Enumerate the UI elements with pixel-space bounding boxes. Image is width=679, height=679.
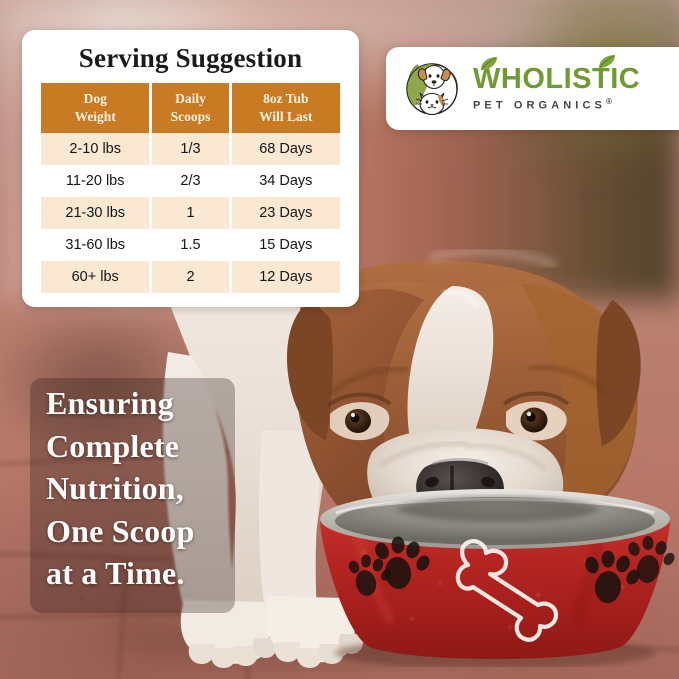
- leaf-icon: [479, 56, 499, 72]
- cell-tub-duration: 34 Days: [232, 165, 340, 197]
- registered-trademark-mark: ®: [606, 97, 612, 106]
- serving-suggestion-card: Serving Suggestion Dog Weight Daily Scoo…: [22, 30, 359, 307]
- cell-dog-weight: 11-20 lbs: [41, 165, 149, 197]
- cell-tub-duration: 15 Days: [232, 229, 340, 261]
- cell-dog-weight: 2-10 lbs: [41, 133, 149, 165]
- cell-daily-scoops: 2: [152, 261, 228, 293]
- brand-tagline-text: PET ORGANICS: [473, 100, 606, 112]
- product-lifestyle-image: Serving Suggestion Dog Weight Daily Scoo…: [0, 0, 679, 679]
- table-row: 31-60 lbs 1.5 15 Days: [41, 229, 340, 261]
- brand-name: WHOLISTIC: [473, 65, 640, 94]
- tagline-text: Ensuring Complete Nutrition, One Scoop a…: [46, 382, 286, 595]
- cell-tub-duration: 12 Days: [232, 261, 340, 293]
- red-dog-bowl: [300, 487, 679, 667]
- leaf-icon: [597, 54, 617, 70]
- column-header-daily-scoops: Daily Scoops: [152, 83, 228, 133]
- dog-and-cat-badge-icon: [400, 57, 464, 121]
- cell-dog-weight: 21-30 lbs: [41, 197, 149, 229]
- brand-tagline: PET ORGANICS®: [473, 98, 640, 112]
- cell-daily-scoops: 1.5: [152, 229, 228, 261]
- cell-daily-scoops: 2/3: [152, 165, 228, 197]
- column-header-dog-weight: Dog Weight: [41, 83, 149, 133]
- table-body: 2-10 lbs 1/3 68 Days 11-20 lbs 2/3 34 Da…: [41, 133, 340, 293]
- table-row: 21-30 lbs 1 23 Days: [41, 197, 340, 229]
- cell-dog-weight: 31-60 lbs: [41, 229, 149, 261]
- cell-tub-duration: 68 Days: [232, 133, 340, 165]
- table-row: 11-20 lbs 2/3 34 Days: [41, 165, 340, 197]
- column-header-tub-duration: 8oz Tub Will Last: [232, 83, 340, 133]
- brand-logo-card: WHOLISTIC PET ORGANICS®: [386, 47, 679, 130]
- cell-tub-duration: 23 Days: [232, 197, 340, 229]
- table-header: Dog Weight Daily Scoops 8oz Tub Will Las…: [41, 83, 340, 133]
- page-title: Serving Suggestion: [38, 44, 343, 72]
- table-header-row: Dog Weight Daily Scoops 8oz Tub Will Las…: [41, 83, 340, 133]
- serving-table: Dog Weight Daily Scoops 8oz Tub Will Las…: [38, 83, 343, 293]
- cell-daily-scoops: 1/3: [152, 133, 228, 165]
- cell-daily-scoops: 1: [152, 197, 228, 229]
- table-row: 60+ lbs 2 12 Days: [41, 261, 340, 293]
- table-row: 2-10 lbs 1/3 68 Days: [41, 133, 340, 165]
- cell-dog-weight: 60+ lbs: [41, 261, 149, 293]
- brand-wordmark: WHOLISTIC PET ORGANICS®: [473, 65, 640, 112]
